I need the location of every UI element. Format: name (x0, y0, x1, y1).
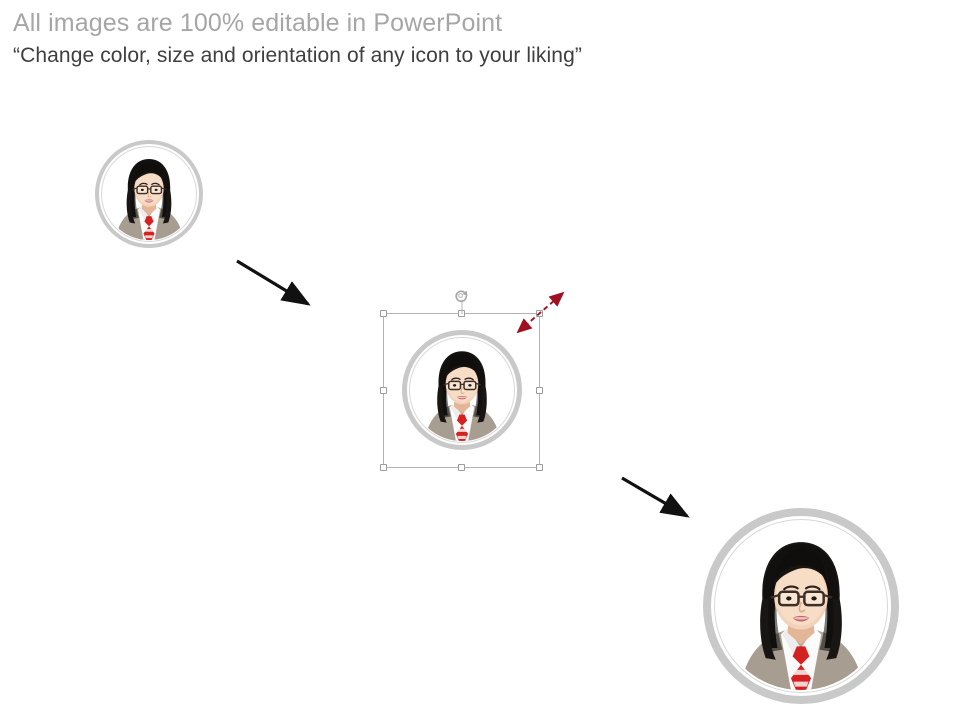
selection-bounding-box[interactable] (383, 313, 540, 468)
heading-primary-text: All images are 100% editable in PowerPoi… (13, 8, 913, 39)
slide-heading-block: All images are 100% editable in PowerPoi… (13, 8, 913, 69)
resize-handle-top-left[interactable] (380, 310, 387, 317)
heading-secondary-text: “Change color, size and orientation of a… (13, 42, 913, 69)
connector-arrow-down-right-1 (230, 252, 322, 318)
resize-handle-bottom-right[interactable] (536, 464, 543, 471)
avatar-businesswoman-large[interactable] (703, 508, 899, 704)
resize-handle-bottom-left[interactable] (380, 464, 387, 471)
rotate-handle-icon[interactable] (453, 290, 471, 314)
avatar-photo (103, 148, 195, 240)
connector-arrow-down-right-2 (615, 468, 701, 528)
resize-handle-top-right[interactable] (536, 310, 543, 317)
powerpoint-slide-canvas: All images are 100% editable in PowerPoi… (0, 0, 960, 720)
resize-handle-bottom-center[interactable] (458, 464, 465, 471)
avatar-photo (717, 522, 885, 690)
resize-handle-middle-right[interactable] (536, 387, 543, 394)
resize-handle-middle-left[interactable] (380, 387, 387, 394)
avatar-businesswoman-small[interactable] (95, 140, 203, 248)
